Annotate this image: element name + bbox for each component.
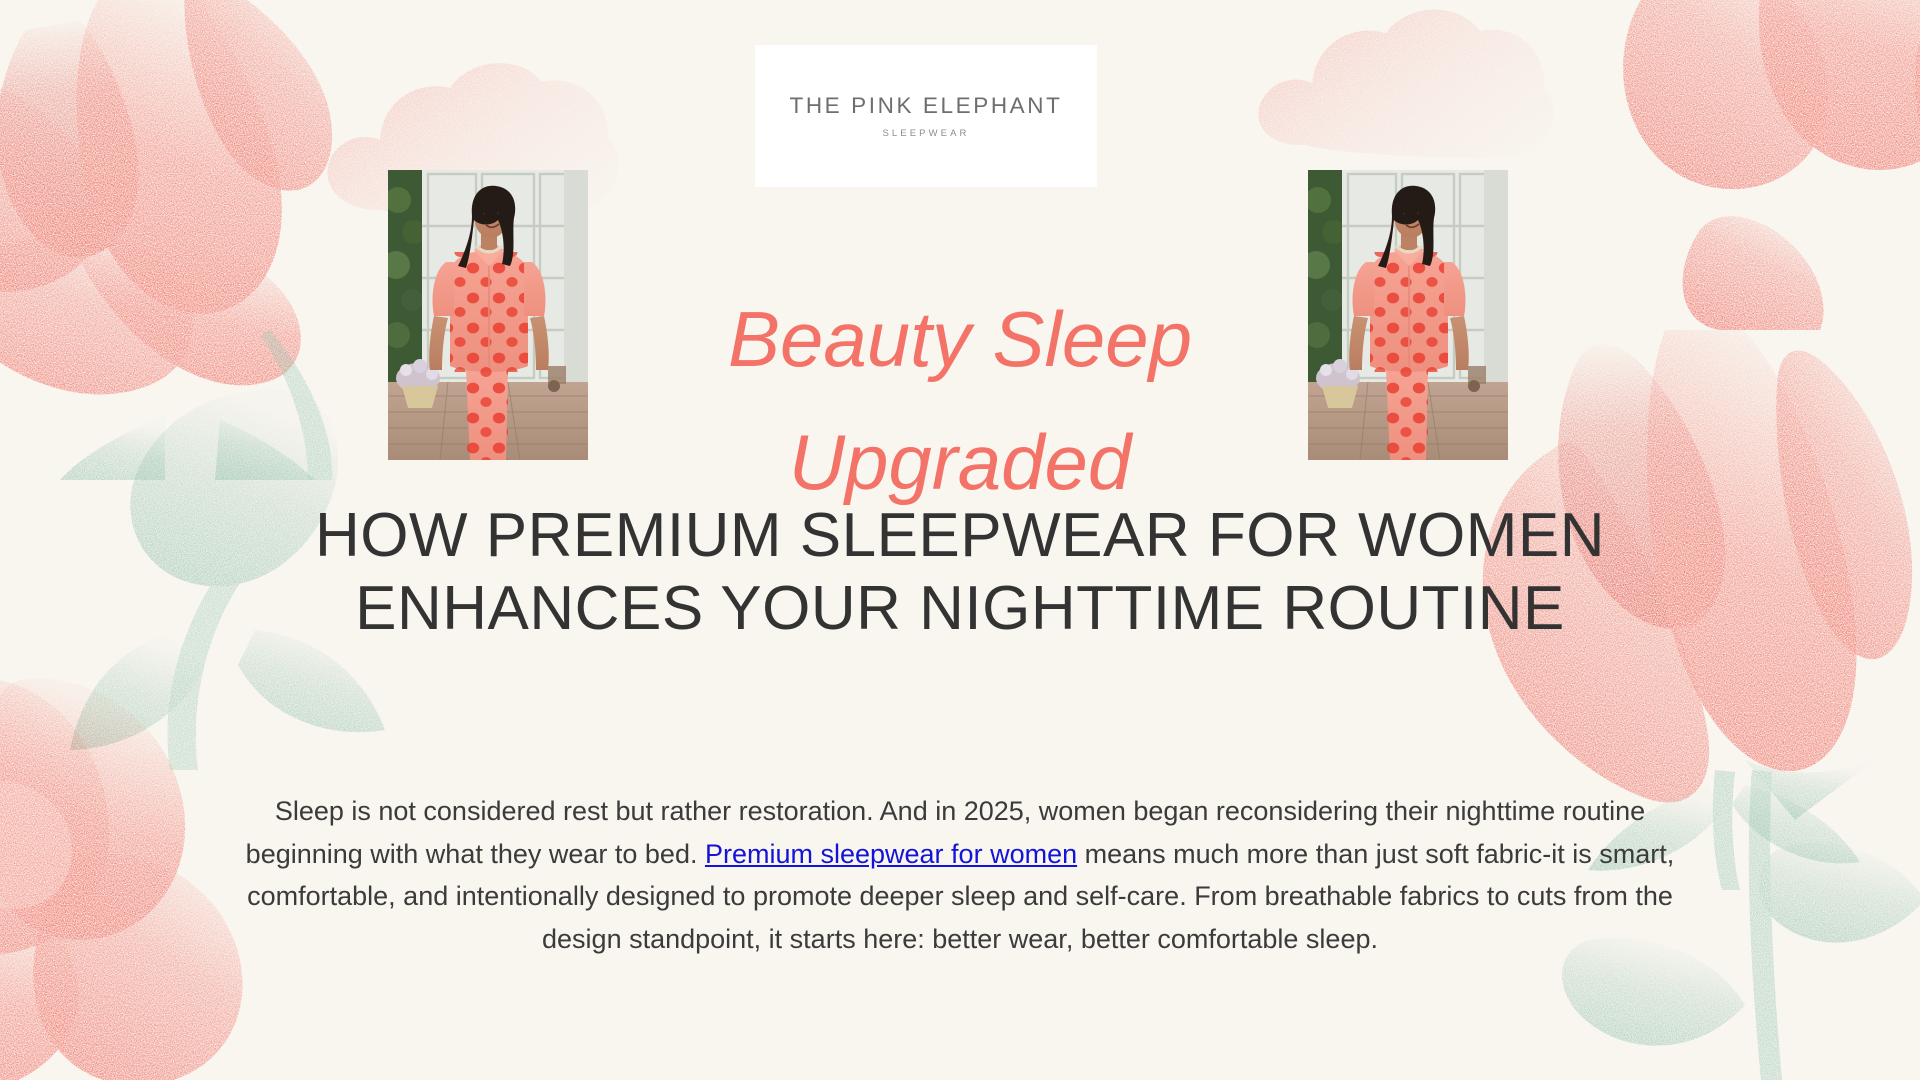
right-cloud-decoration [1250,5,1570,180]
brand-logo-plate[interactable]: THE PINK ELEPHANT SLEEPWEAR [755,45,1097,187]
body-paragraph: Sleep is not considered rest but rather … [230,790,1690,961]
premium-sleepwear-link[interactable]: Premium sleepwear for women [705,839,1077,869]
brand-wordmark: THE PINK ELEPHANT [789,93,1062,119]
model-photo-left-image [388,170,588,460]
model-photo-right[interactable] [1308,170,1508,460]
hero-title: Beauty Sleep Upgraded [0,278,1920,524]
hero-title-line-1: Beauty Sleep [728,295,1192,383]
slide-canvas: THE PINK ELEPHANT SLEEPWEAR [0,0,1920,1080]
brand-tagline: SLEEPWEAR [882,128,969,139]
page-title: HOW PREMIUM SLEEPWEAR FOR WOMEN ENHANCES… [230,500,1690,645]
model-photo-right-image [1308,170,1508,460]
model-photo-left[interactable] [388,170,588,460]
